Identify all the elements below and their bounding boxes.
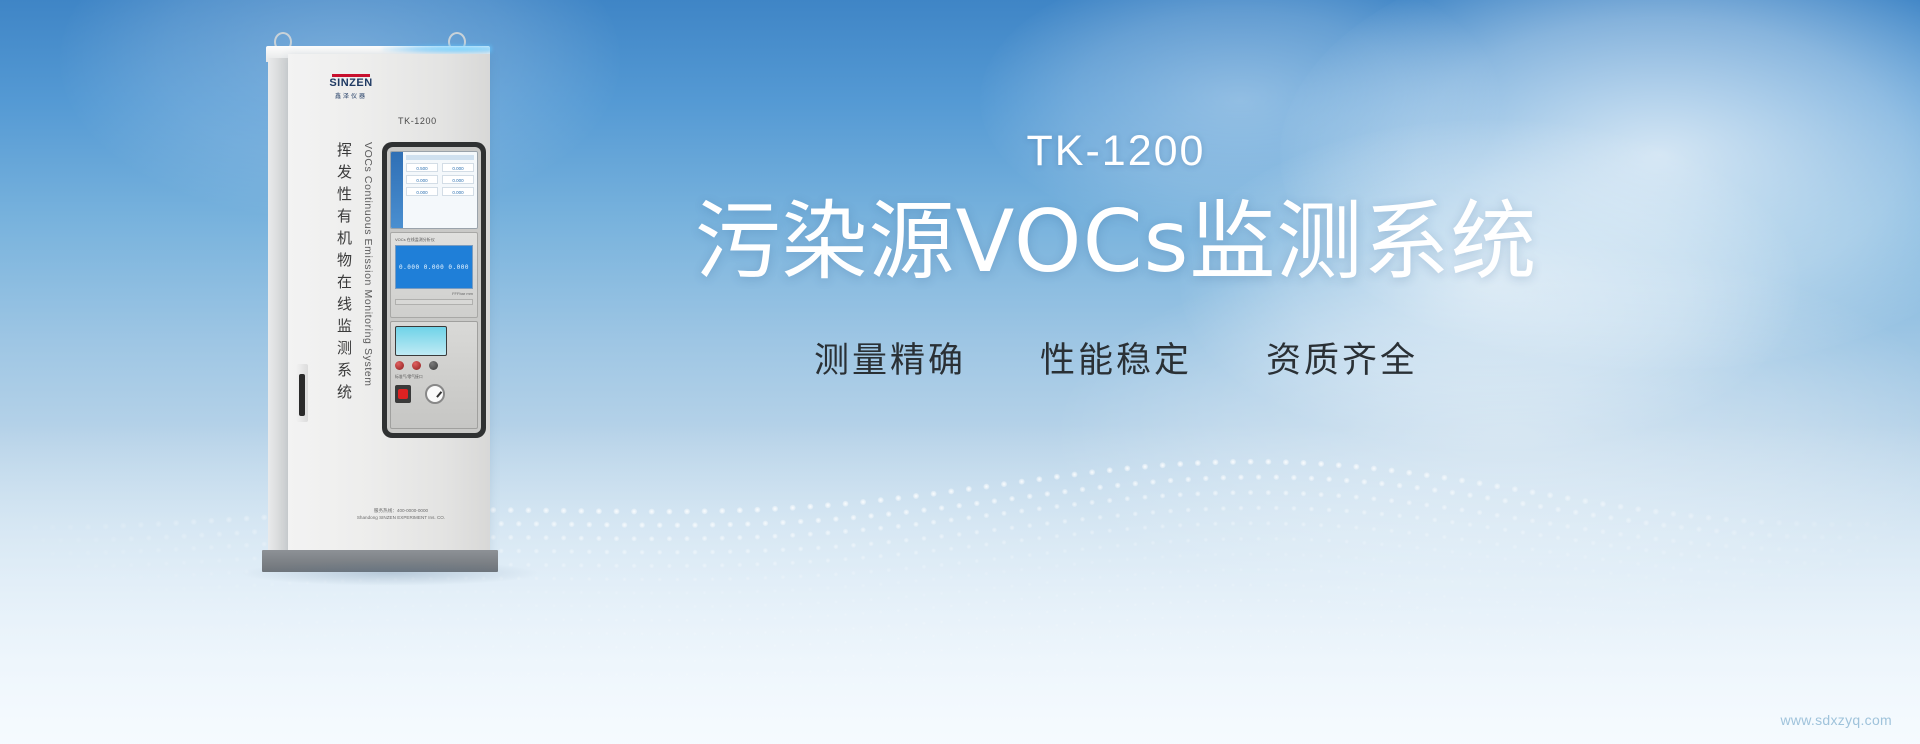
adjust-knob-icon bbox=[429, 361, 438, 370]
brand-name: SINZEN bbox=[316, 78, 386, 89]
pressure-gauge-icon bbox=[425, 384, 445, 404]
brand-logo: SINZEN 鑫泽仪器 bbox=[316, 74, 386, 100]
analyzer-display: 0.000 0.000 0.000 bbox=[395, 245, 473, 289]
led-glow-accent bbox=[382, 44, 492, 54]
service-hotline: 服务热线：400-0000-0000 bbox=[326, 508, 476, 515]
hero-headline: 污染源VOCs监测系统 bbox=[556, 197, 1676, 287]
run-knob-icon bbox=[412, 361, 421, 370]
hmi-side-menu bbox=[391, 152, 403, 228]
company-name-en: Shandong SINZEN EXPERIMENT Ins. CO. bbox=[326, 515, 476, 522]
hero-copy-block: TK-1200 污染源VOCs监测系统 测量精确 性能稳定 资质齐全 bbox=[556, 128, 1676, 383]
hero-banner: SINZEN 鑫泽仪器 TK-1200 挥发性有机物在线监测系统 VOCs Co… bbox=[0, 0, 1920, 744]
feature-item: 测量精确 bbox=[814, 332, 966, 383]
hmi-readout-cell: 0.500 bbox=[406, 163, 438, 172]
cabinet-model-tag: TK-1200 bbox=[398, 116, 437, 126]
feature-list: 测量精确 性能稳定 资质齐全 bbox=[556, 332, 1676, 383]
analyzer-slot bbox=[395, 299, 473, 305]
door-handle bbox=[296, 364, 308, 422]
cabinet-vertical-title-cn: 挥发性有机物在线监测系统 bbox=[336, 142, 351, 406]
cabinet-front-door: SINZEN 鑫泽仪器 TK-1200 挥发性有机物在线监测系统 VOCs Co… bbox=[288, 54, 490, 558]
knob-row bbox=[395, 361, 473, 370]
analyzer-module: VOCs 在线监测分析仪 0.000 0.000 0.000 FFFbar mm bbox=[390, 232, 478, 318]
cabinet-side-panel bbox=[268, 58, 290, 558]
feature-item: 性能稳定 bbox=[1040, 332, 1192, 383]
hmi-readout-cell: 0.000 bbox=[442, 175, 474, 184]
hmi-header-bar bbox=[406, 155, 474, 160]
site-watermark: www.sdxzyq.com bbox=[1780, 712, 1892, 728]
brand-name-cn: 鑫泽仪器 bbox=[316, 91, 386, 100]
control-display bbox=[395, 326, 447, 356]
cabinet-shadow bbox=[240, 560, 540, 586]
feature-item: 资质齐全 bbox=[1266, 332, 1418, 383]
cabinet-footer-label: 服务热线：400-0000-0000 Shandong SINZEN EXPER… bbox=[326, 508, 476, 522]
control-note: 标准气/零气接口 bbox=[395, 375, 473, 380]
emergency-stop-icon bbox=[395, 385, 411, 403]
hmi-readout-grid: 0.500 0.000 0.000 0.000 0.000 0.000 bbox=[406, 163, 474, 196]
analyzer-footnote: FFFbar mm bbox=[395, 291, 473, 296]
control-module: 标准气/零气接口 bbox=[390, 321, 478, 429]
product-cabinet-image: SINZEN 鑫泽仪器 TK-1200 挥发性有机物在线监测系统 VOCs Co… bbox=[262, 24, 494, 572]
product-model: TK-1200 bbox=[556, 128, 1676, 175]
hmi-touch-panel: 0.500 0.000 0.000 0.000 0.000 0.000 bbox=[390, 151, 478, 229]
hmi-readout-cell: 0.000 bbox=[406, 175, 438, 184]
power-knob-icon bbox=[395, 361, 404, 370]
instrument-bay: 0.500 0.000 0.000 0.000 0.000 0.000 VOCs… bbox=[382, 142, 486, 438]
hmi-readout-cell: 0.000 bbox=[406, 187, 438, 196]
cabinet-vertical-title-en: VOCs Continuous Emission Monitoring Syst… bbox=[362, 142, 374, 387]
analyzer-label: VOCs 在线监测分析仪 bbox=[395, 237, 473, 243]
hmi-readout-cell: 0.000 bbox=[442, 187, 474, 196]
hmi-readout-cell: 0.000 bbox=[442, 163, 474, 172]
